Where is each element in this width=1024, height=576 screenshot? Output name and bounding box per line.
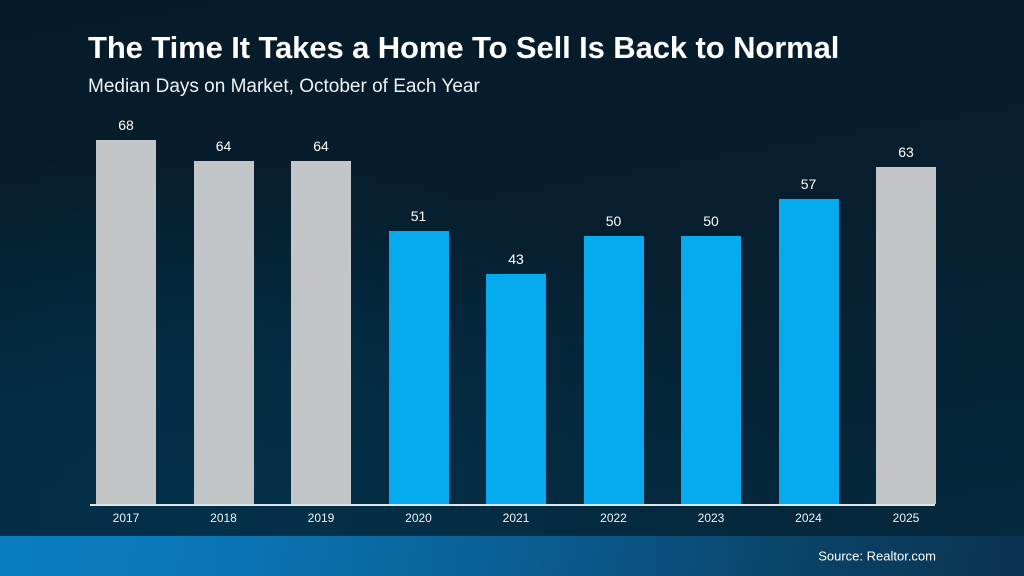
bar-slot[interactable]: 64 bbox=[291, 140, 351, 504]
bar-value-label: 43 bbox=[508, 252, 524, 266]
bar-series: 686464514350505763 bbox=[96, 140, 936, 504]
bar-slot[interactable]: 57 bbox=[779, 140, 839, 504]
bar-value-label: 50 bbox=[703, 214, 719, 228]
bar-slot[interactable]: 50 bbox=[681, 140, 741, 504]
x-axis-label-2018: 2018 bbox=[194, 512, 254, 524]
bar-2023[interactable] bbox=[681, 236, 741, 504]
x-axis-line bbox=[90, 504, 935, 506]
bar-slot[interactable]: 50 bbox=[584, 140, 644, 504]
x-axis-label-2023: 2023 bbox=[681, 512, 741, 524]
bar-slot[interactable]: 43 bbox=[486, 140, 546, 504]
chart-title: The Time It Takes a Home To Sell Is Back… bbox=[88, 30, 968, 66]
bar-value-label: 64 bbox=[313, 139, 329, 153]
x-axis-label-2017: 2017 bbox=[96, 512, 156, 524]
bar-slot[interactable]: 68 bbox=[96, 140, 156, 504]
bar-value-label: 68 bbox=[118, 118, 134, 132]
footer-bar: Source: Realtor.com bbox=[0, 536, 1024, 576]
bar-value-label: 50 bbox=[606, 214, 622, 228]
x-axis-label-2025: 2025 bbox=[876, 512, 936, 524]
bar-slot[interactable]: 51 bbox=[389, 140, 449, 504]
bar-2021[interactable] bbox=[486, 274, 546, 504]
bar-slot[interactable]: 63 bbox=[876, 140, 936, 504]
bar-2020[interactable] bbox=[389, 231, 449, 504]
chart-header: The Time It Takes a Home To Sell Is Back… bbox=[88, 30, 968, 98]
bar-2018[interactable] bbox=[194, 161, 254, 504]
bar-slot[interactable]: 64 bbox=[194, 140, 254, 504]
bar-chart-plot-area: 686464514350505763 201720182019202020212… bbox=[96, 140, 936, 504]
chart-subtitle: Median Days on Market, October of Each Y… bbox=[88, 76, 968, 99]
x-axis-label-2021: 2021 bbox=[486, 512, 546, 524]
bar-2022[interactable] bbox=[584, 236, 644, 504]
bar-value-label: 64 bbox=[216, 139, 232, 153]
bar-2025[interactable] bbox=[876, 167, 936, 504]
bar-2019[interactable] bbox=[291, 161, 351, 504]
x-axis-tick-labels: 201720182019202020212022202320242025 bbox=[96, 512, 936, 524]
bar-value-label: 57 bbox=[801, 177, 817, 191]
bar-value-label: 63 bbox=[898, 145, 914, 159]
chart-slide: The Time It Takes a Home To Sell Is Back… bbox=[0, 0, 1024, 576]
bar-2017[interactable] bbox=[96, 140, 156, 504]
source-attribution: Source: Realtor.com bbox=[818, 549, 936, 564]
x-axis-label-2020: 2020 bbox=[389, 512, 449, 524]
x-axis-label-2022: 2022 bbox=[584, 512, 644, 524]
bar-2024[interactable] bbox=[779, 199, 839, 504]
x-axis-label-2019: 2019 bbox=[291, 512, 351, 524]
bar-value-label: 51 bbox=[411, 209, 427, 223]
x-axis-label-2024: 2024 bbox=[779, 512, 839, 524]
